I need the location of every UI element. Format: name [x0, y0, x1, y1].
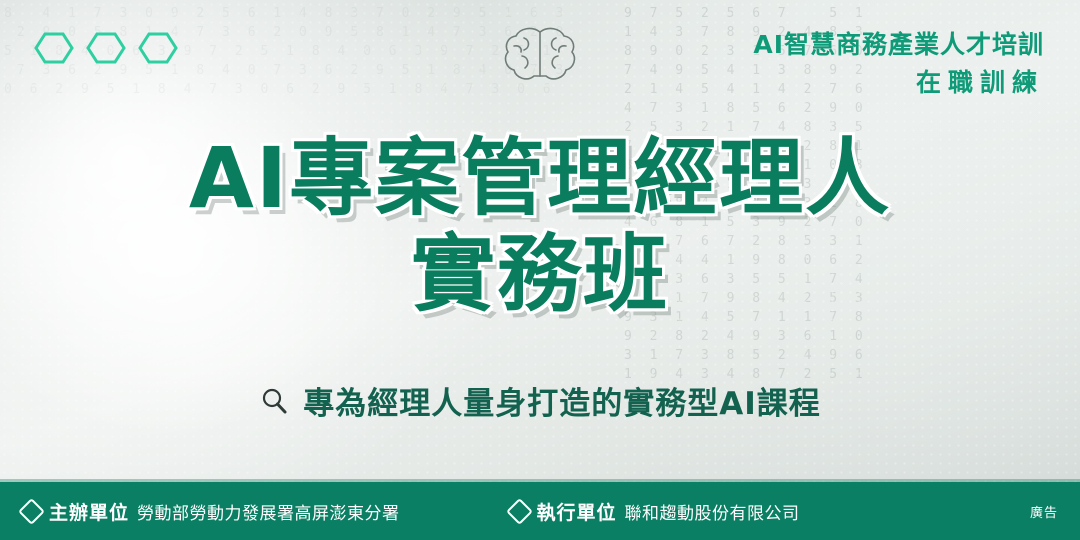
- diamond-icon: [18, 498, 45, 525]
- main-title: AI專案管理經理人 實務班: [0, 130, 1080, 322]
- organizer-value: 勞動部勞動力發展署高屏澎東分署: [137, 499, 400, 524]
- hexagon-icon: [138, 28, 178, 68]
- hexagon-icon: [34, 28, 74, 68]
- executor-label: 執行單位: [537, 498, 617, 525]
- main-title-line1: AI專案管理經理人: [0, 130, 1080, 226]
- magnifier-icon: [259, 386, 289, 416]
- executor-group: 執行單位 聯和趨動股份有限公司: [510, 498, 800, 525]
- top-heading-line1: AI智慧商務產業人才培訓: [753, 28, 1044, 62]
- main-title-line2: 實務班: [0, 226, 1080, 322]
- organizer-label: 主辦單位: [49, 498, 129, 525]
- diamond-icon: [506, 498, 533, 525]
- organizer-group: 主辦單位 勞動部勞動力發展署高屏澎東分署: [22, 498, 400, 525]
- top-heading-line2: 在職訓練: [753, 66, 1044, 100]
- subtitle-text: 專為經理人量身打造的實務型AI課程: [303, 378, 821, 423]
- logo-hex-row: [34, 28, 178, 68]
- brain-icon: [500, 24, 580, 86]
- ad-label: 廣告: [1030, 502, 1058, 521]
- hexagon-icon: [86, 28, 126, 68]
- top-heading: AI智慧商務產業人才培訓 在職訓練: [753, 28, 1044, 100]
- subtitle-row: 專為經理人量身打造的實務型AI課程: [0, 378, 1080, 423]
- footer-bar: 主辦單位 勞動部勞動力發展署高屏澎東分署 執行單位 聯和趨動股份有限公司 廣告: [0, 482, 1080, 540]
- executor-value: 聯和趨動股份有限公司: [625, 499, 800, 524]
- poster-canvas: 8 4 1 7 3 0 9 2 5 6 1 4 8 3 7 0 2 9 5 1 …: [0, 0, 1080, 540]
